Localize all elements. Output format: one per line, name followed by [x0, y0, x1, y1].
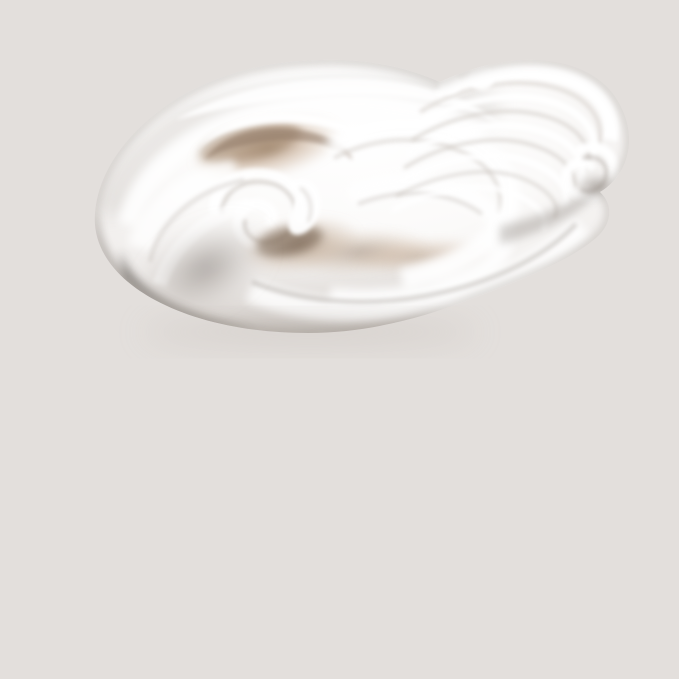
- cream-swatch-image: [0, 0, 679, 360]
- product-benefits-page: BENEFITS Younger looking skin Promotes s…: [0, 0, 679, 679]
- cream-body: [60, 40, 660, 360]
- cream-drop-shadow: [142, 320, 478, 344]
- benefits-section: BENEFITS Younger looking skin Promotes s…: [0, 360, 679, 679]
